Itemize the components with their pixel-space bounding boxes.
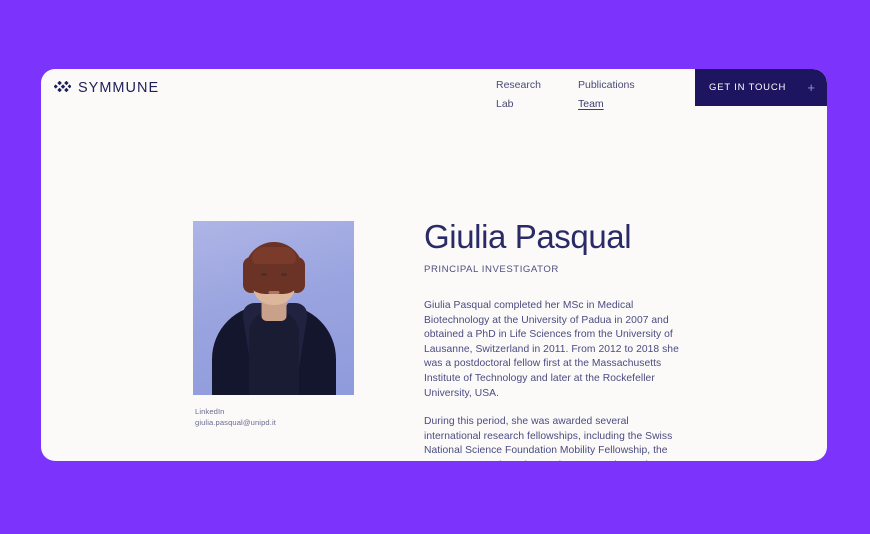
get-in-touch-button[interactable]: GET IN TOUCH + bbox=[695, 69, 827, 106]
get-in-touch-label: GET IN TOUCH bbox=[709, 83, 786, 93]
bio-paragraph-1: Giulia Pasqual completed her MSc in Medi… bbox=[424, 299, 682, 401]
plus-icon: + bbox=[807, 81, 815, 94]
site-card: SYMMUNE Research Lab Publications Team G… bbox=[41, 69, 827, 461]
nav-item-lab[interactable]: Lab bbox=[496, 97, 558, 112]
brand-name: SYMMUNE bbox=[78, 81, 159, 96]
brand-logo[interactable]: SYMMUNE bbox=[54, 79, 159, 97]
nav-column-right: Publications Team bbox=[578, 78, 640, 112]
page-title: Giulia Pasqual bbox=[424, 218, 682, 256]
diamond-cluster-icon bbox=[54, 79, 71, 97]
nav-column-left: Research Lab bbox=[496, 78, 558, 112]
profile-bio-column: Giulia Pasqual PRINCIPAL INVESTIGATOR Gi… bbox=[424, 218, 682, 461]
site-header: SYMMUNE Research Lab Publications Team G… bbox=[41, 69, 827, 120]
portrait-brow-right bbox=[280, 268, 288, 270]
page-root: SYMMUNE Research Lab Publications Team G… bbox=[0, 0, 870, 534]
portrait-turtleneck bbox=[249, 311, 299, 395]
portrait-mouth bbox=[268, 291, 279, 294]
bio-paragraph-2: During this period, she was awarded seve… bbox=[424, 415, 682, 461]
portrait-brow-left bbox=[260, 268, 268, 270]
profile-role: PRINCIPAL INVESTIGATOR bbox=[424, 263, 682, 276]
nav-item-publications[interactable]: Publications bbox=[578, 78, 640, 93]
profile-photo bbox=[193, 221, 354, 395]
profile-photo-column: LinkedIn giulia.pasqual@unipd.it bbox=[193, 221, 355, 428]
profile-links: LinkedIn giulia.pasqual@unipd.it bbox=[193, 406, 355, 428]
portrait-fringe bbox=[252, 247, 296, 264]
linkedin-link[interactable]: LinkedIn bbox=[195, 406, 355, 417]
portrait-eye-left bbox=[261, 273, 267, 276]
nav-item-research[interactable]: Research bbox=[496, 78, 558, 93]
email-link[interactable]: giulia.pasqual@unipd.it bbox=[195, 417, 355, 428]
portrait-eye-right bbox=[281, 273, 287, 276]
nav-item-team[interactable]: Team bbox=[578, 97, 640, 112]
